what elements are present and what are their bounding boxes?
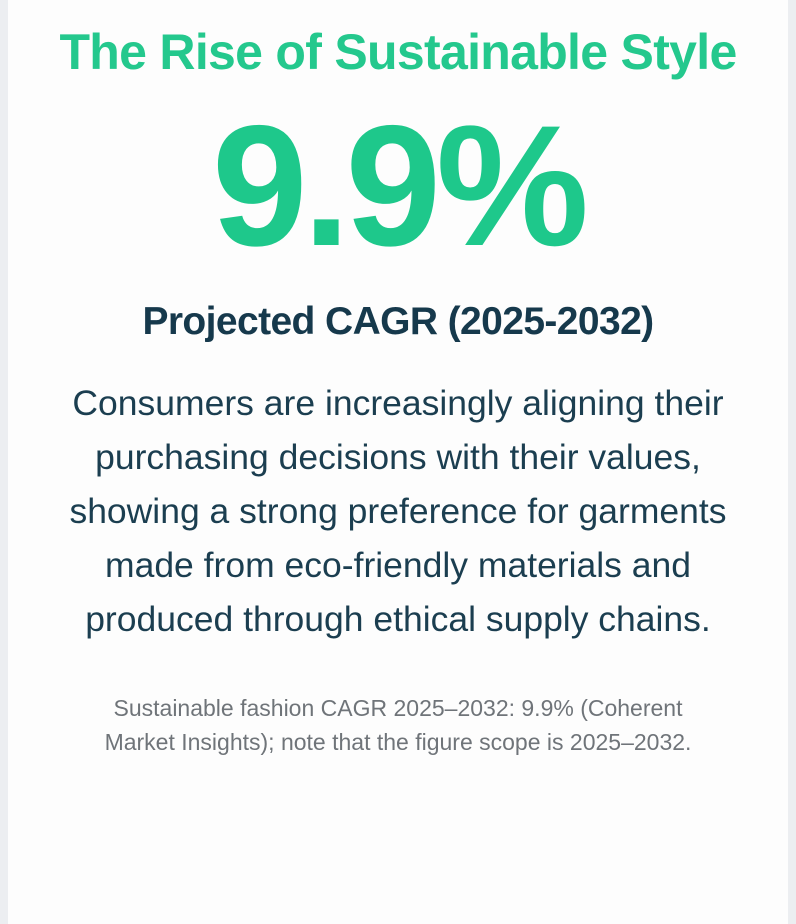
stat-label: Projected CAGR (2025-2032) [41, 257, 755, 344]
source-footnote: Sustainable fashion CAGR 2025–2032: 9.9%… [78, 647, 718, 759]
page-background: The Rise of Sustainable Style 9.9% Proje… [0, 0, 796, 924]
page-title: The Rise of Sustainable Style [41, 0, 755, 80]
stat-value: 9.9% [41, 80, 755, 257]
body-paragraph: Consumers are increasingly aligning thei… [53, 344, 743, 647]
stat-card: The Rise of Sustainable Style 9.9% Proje… [8, 0, 788, 924]
